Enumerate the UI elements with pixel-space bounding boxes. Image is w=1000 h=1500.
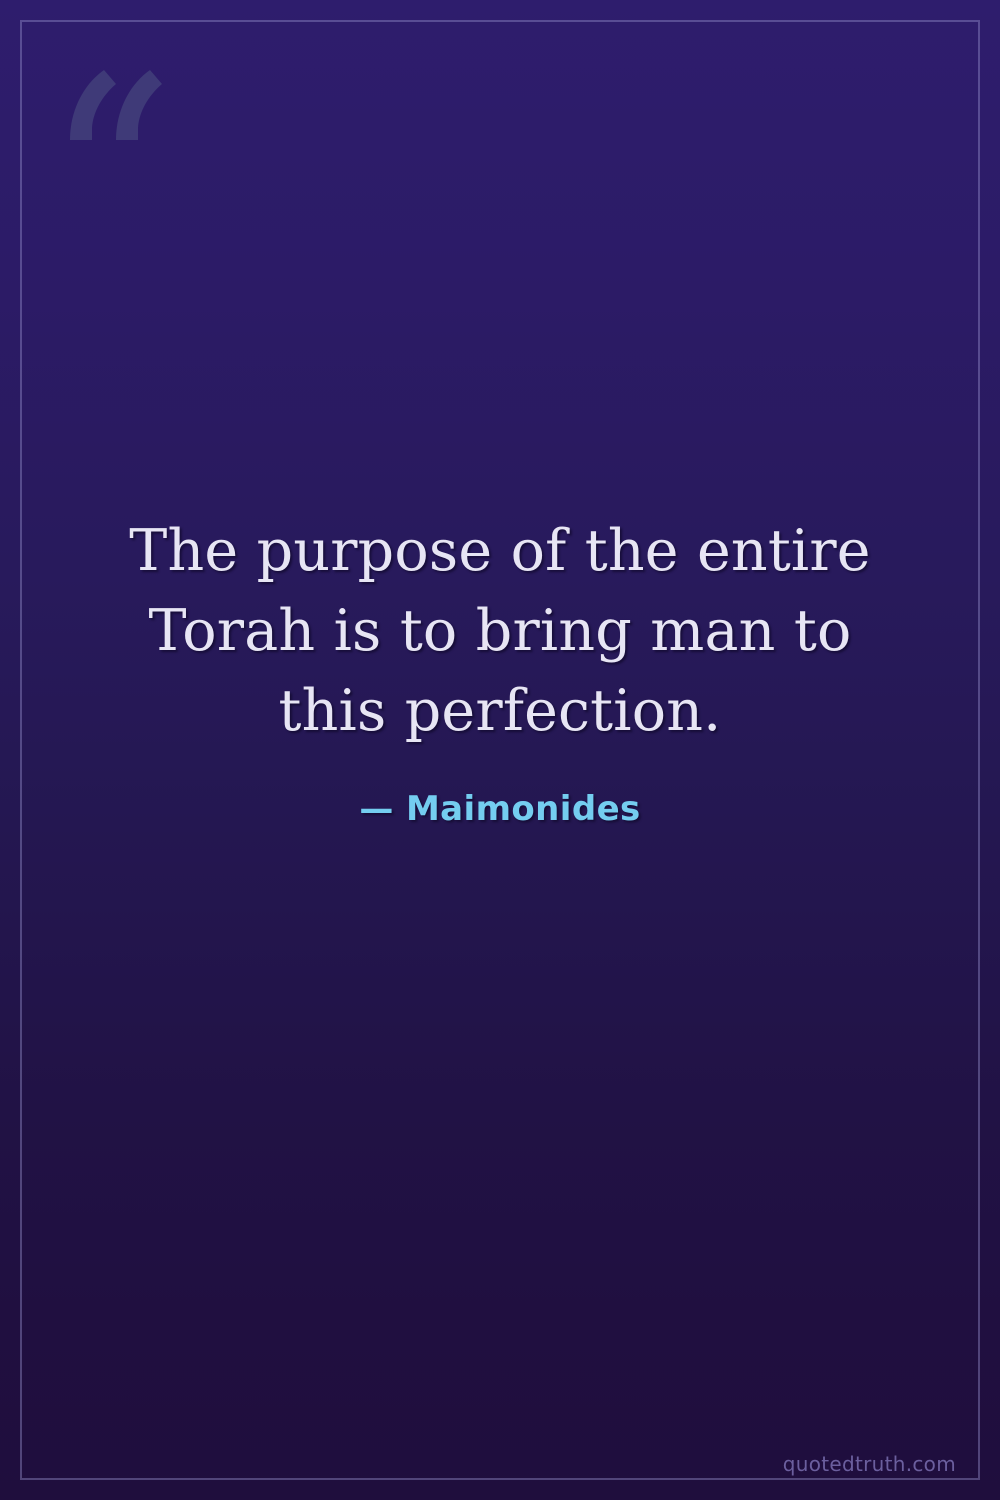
quote-text: The purpose of the entire Torah is to br… bbox=[120, 511, 880, 751]
quote-content-block: The purpose of the entire Torah is to br… bbox=[0, 0, 1000, 1500]
quote-card: The purpose of the entire Torah is to br… bbox=[0, 0, 1000, 1500]
site-watermark: quotedtruth.com bbox=[783, 1452, 956, 1476]
quote-attribution: — Maimonides bbox=[359, 789, 640, 829]
